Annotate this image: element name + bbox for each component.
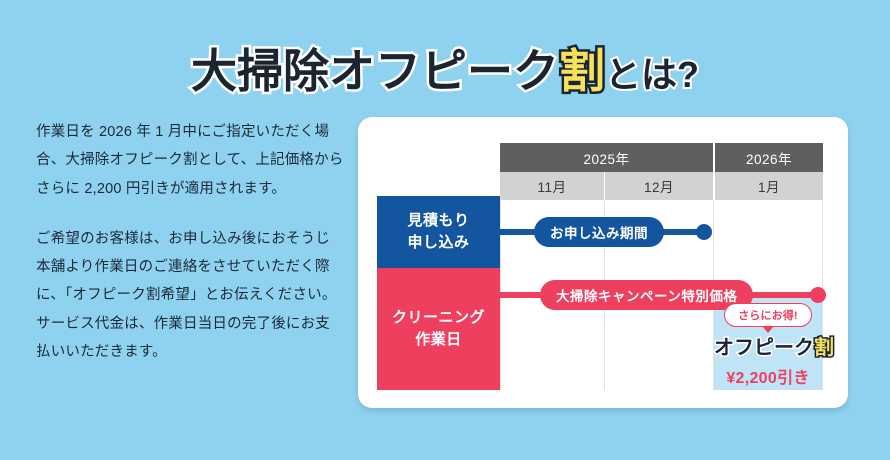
page-title-highlight: 割 [559, 45, 605, 97]
discount-name-highlight: 割 [814, 337, 834, 359]
discount-name-main: オフピーク [714, 337, 814, 359]
description-paragraph-1: 作業日を 2026 年 1 月中にご指定いただく場合、大掃除オフピーク割として、… [36, 118, 344, 203]
description-paragraph-2: ご希望のお客様は、お申し込み後におそうじ本舗より作業日のご連絡をさせていただく際… [36, 225, 344, 366]
timeline-end-dot [696, 224, 712, 240]
year-header-2026: 2026年 [714, 143, 823, 172]
page-title: 大掃除オフピーク割とは? [0, 48, 890, 95]
month-header-nov: 11月 [500, 172, 604, 200]
month-header-jan: 1月 [714, 172, 823, 200]
page-title-main: 大掃除オフピーク [191, 45, 559, 97]
discount-name: オフピーク割 [714, 338, 822, 358]
row-label-cleaning-line2: 作業日 [415, 329, 462, 351]
row-label-cleaning-line1: クリーニング [392, 307, 485, 329]
schedule-card: 2025年 2026年 11月 12月 1月 見積もり 申し込み クリーニング … [358, 117, 848, 408]
slide-root: 大掃除オフピーク割とは? 作業日を 2026 年 1 月中にご指定いただく場合、… [0, 0, 890, 460]
timeline-label-application: お申し込み期間 [534, 217, 664, 247]
year-header-2025: 2025年 [500, 143, 713, 172]
discount-bubble: さらにお得! [724, 303, 812, 327]
row-label-estimate-line2: 申し込み [407, 232, 469, 254]
page-title-tail: とは? [605, 54, 699, 95]
row-label-cleaning: クリーニング 作業日 [377, 268, 500, 390]
discount-price: ¥2,200引き [714, 364, 822, 388]
row-label-estimate: 見積もり 申し込み [377, 196, 500, 268]
month-header-dec: 12月 [604, 172, 713, 200]
row-label-estimate-line1: 見積もり [407, 210, 469, 232]
description-text: 作業日を 2026 年 1 月中にご指定いただく場合、大掃除オフピーク割として、… [36, 118, 344, 366]
timeline-end-dot [810, 287, 826, 303]
discount-callout: さらにお得! オフピーク割 ¥2,200引き [714, 303, 822, 388]
